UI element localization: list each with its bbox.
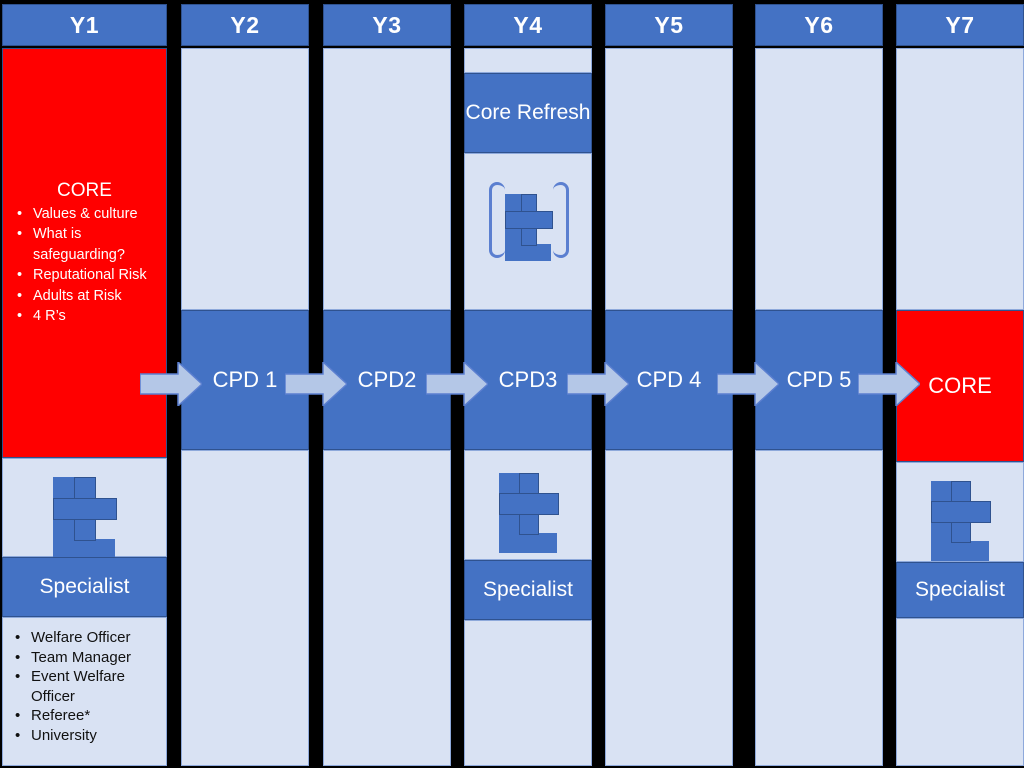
bracketed-plus-panel-y4	[464, 153, 592, 310]
year-header-y2-label: Y2	[230, 12, 259, 39]
arrow-cpd4-to-cpd5	[717, 362, 779, 406]
year-header-y1-label: Y1	[70, 12, 99, 39]
track-y6	[755, 48, 883, 310]
track-bottom-y7	[896, 618, 1024, 766]
arrow-cpd1-to-cpd2	[285, 362, 347, 406]
year-header-y6-label: Y6	[804, 12, 833, 39]
plus-panel-y1	[2, 458, 167, 557]
training-pathway-diagram: Y1 CORE Values & culture What is safegua…	[0, 0, 1024, 768]
track-bottom-y4	[464, 620, 592, 766]
arrow-y1-to-cpd1	[140, 362, 202, 406]
year-header-y3: Y3	[323, 4, 451, 46]
year-header-y4-label: Y4	[513, 12, 542, 39]
plus-panel-y7	[896, 462, 1024, 562]
specialist-roles-panel-y1: Welfare Officer Team Manager Event Welfa…	[2, 617, 167, 766]
core-refresh-block-y4[interactable]: Core Refresh	[464, 73, 592, 153]
core-title-y1: CORE	[57, 180, 112, 202]
right-arrow-icon	[567, 362, 629, 406]
specialist-label-y4: Specialist	[483, 578, 573, 602]
core-bullet: Adults at Risk	[5, 286, 164, 307]
plus-icon	[499, 473, 559, 535]
cpd-label-y6: CPD 5	[787, 367, 852, 393]
track-lower-y6	[755, 450, 883, 766]
bracket-right-icon	[553, 182, 569, 258]
specialist-role: Event Welfare Officer	[3, 667, 166, 706]
bracketed-plus-icon	[495, 186, 563, 254]
track-lower-y5	[605, 450, 733, 766]
core-bullet: 4 R’s	[5, 306, 164, 327]
specialist-role: Team Manager	[3, 648, 166, 668]
core-bullet: Values & culture	[5, 204, 164, 225]
track-y3	[323, 48, 451, 310]
core-label-y7: CORE	[928, 373, 992, 399]
year-header-y5: Y5	[605, 4, 733, 46]
right-arrow-icon	[858, 362, 920, 406]
track-y7	[896, 48, 1024, 310]
year-header-y2: Y2	[181, 4, 309, 46]
year-header-y3-label: Y3	[372, 12, 401, 39]
specialist-role-list-y1: Welfare Officer Team Manager Event Welfa…	[3, 628, 166, 745]
year-header-y5-label: Y5	[654, 12, 683, 39]
plus-icon	[53, 477, 117, 541]
year-header-y7: Y7	[896, 4, 1024, 46]
specialist-block-y7[interactable]: Specialist	[896, 562, 1024, 618]
plus-icon	[931, 481, 991, 543]
track-y2	[181, 48, 309, 310]
track-lower-y3	[323, 450, 451, 766]
year-header-y6: Y6	[755, 4, 883, 46]
track-top-y4	[464, 48, 592, 73]
arrow-cpd2-to-cpd3	[426, 362, 488, 406]
specialist-role: Referee*	[3, 706, 166, 726]
arrow-cpd3-to-cpd4	[567, 362, 629, 406]
year-header-y4: Y4	[464, 4, 592, 46]
plus-panel-y4	[464, 450, 592, 560]
bracket-left-icon	[489, 182, 505, 258]
specialist-role: Welfare Officer	[3, 628, 166, 648]
core-bullet: Reputational Risk	[5, 265, 164, 286]
right-arrow-icon	[426, 362, 488, 406]
specialist-label-y7: Specialist	[915, 578, 1005, 602]
year-header-y7-label: Y7	[945, 12, 974, 39]
right-arrow-icon	[717, 362, 779, 406]
specialist-block-y4[interactable]: Specialist	[464, 560, 592, 620]
specialist-role: University	[3, 726, 166, 746]
core-bullet-list-y1: Values & culture What is safeguarding? R…	[5, 204, 164, 327]
arrow-cpd5-to-core	[858, 362, 920, 406]
cpd-label-y3: CPD2	[358, 367, 417, 393]
core-refresh-label-y4: Core Refresh	[466, 100, 591, 126]
right-arrow-icon	[140, 362, 202, 406]
track-lower-y2	[181, 450, 309, 766]
track-y5	[605, 48, 733, 310]
cpd-label-y4: CPD3	[499, 367, 558, 393]
core-bullet: What is safeguarding?	[5, 224, 164, 265]
cpd-label-y2: CPD 1	[213, 367, 278, 393]
year-header-y1: Y1	[2, 4, 167, 46]
specialist-block-y1[interactable]: Specialist	[2, 557, 167, 617]
cpd-label-y5: CPD 4	[637, 367, 702, 393]
specialist-label-y1: Specialist	[40, 575, 130, 599]
right-arrow-icon	[285, 362, 347, 406]
